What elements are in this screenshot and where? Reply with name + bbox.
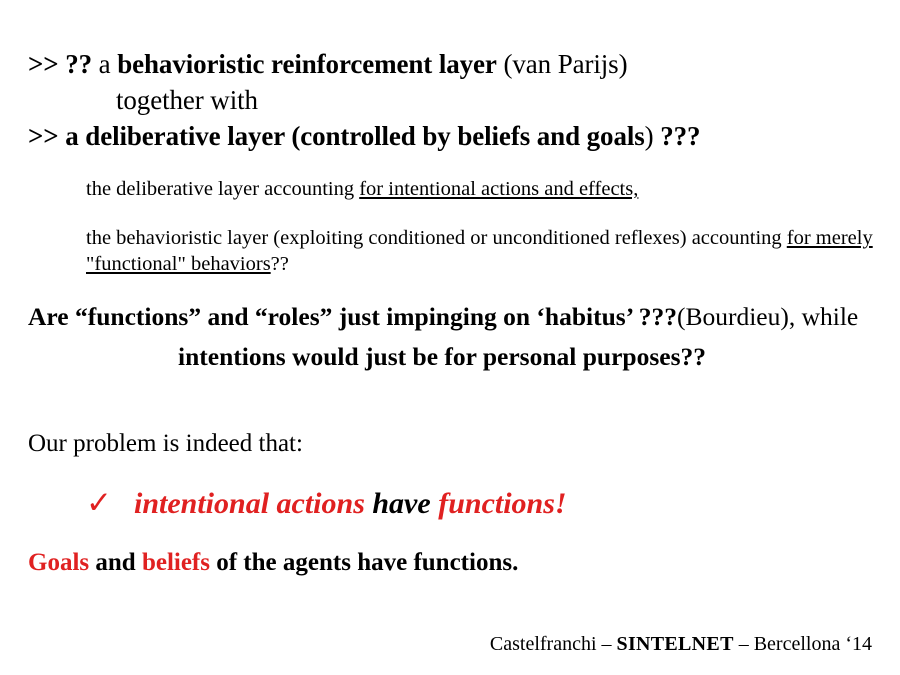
problem-statement: Our problem is indeed that:: [28, 430, 303, 458]
explanation-block: the deliberative layer accounting for in…: [86, 176, 876, 278]
explanation-2-plain-end: ??: [271, 253, 289, 275]
lead-line-1-article: a: [92, 49, 117, 79]
footer-location: – Bercellona ‘14: [734, 633, 872, 655]
question-sub-line: intentions would just be for personal pu…: [28, 340, 860, 374]
lead-line-1-bold-phrase: behavioristic reinforcement layer: [117, 49, 497, 79]
lead-line-3-bold-phrase: a deliberative layer (controlled by beli…: [65, 121, 644, 151]
lead-line-1-citation: (van Parijs): [497, 49, 628, 79]
goals-black-tail: of the agents have functions.: [210, 549, 518, 576]
goals-beliefs-line: Goals and beliefs of the agents have fun…: [28, 549, 518, 577]
question-main-bold: Are “functions” and “roles” just impingi…: [28, 302, 677, 331]
lead-block: >> ?? a behavioristic reinforcement laye…: [28, 47, 872, 155]
footer-author: Castelfranchi –: [490, 633, 617, 655]
explanation-paragraph-1: the deliberative layer accounting for in…: [86, 176, 876, 202]
claim-red-part-1: intentional actions: [134, 487, 365, 520]
question-main-line: Are “functions” and “roles” just impingi…: [28, 300, 860, 334]
claim-red-part-2: functions!: [438, 487, 566, 520]
slide-footer: Castelfranchi – SINTELNET – Bercellona ‘…: [0, 633, 872, 656]
footer-event: SINTELNET: [617, 633, 734, 655]
lead-line-1-marker: >> ??: [28, 49, 92, 79]
goals-black-mid: and: [89, 549, 142, 576]
claim-black-part: have: [365, 487, 438, 520]
question-main-plain: (Bourdieu), while: [677, 302, 858, 331]
lead-line-1: >> ?? a behavioristic reinforcement laye…: [28, 47, 872, 83]
explanation-2-plain-start: the behavioristic layer (exploiting cond…: [86, 227, 787, 249]
lead-line-2: together with: [28, 83, 872, 119]
explanation-1-underlined: for intentional actions and effects,: [359, 178, 638, 200]
slide-canvas: >> ?? a behavioristic reinforcement laye…: [0, 0, 900, 675]
lead-line-3-marker: >>: [28, 121, 65, 151]
question-block: Are “functions” and “roles” just impingi…: [28, 300, 860, 373]
explanation-paragraph-2: the behavioristic layer (exploiting cond…: [86, 225, 876, 277]
lead-line-3-queries: ???: [654, 121, 701, 151]
goals-red-word-2: beliefs: [142, 549, 210, 576]
goals-red-word-1: Goals: [28, 549, 89, 576]
lead-line-3: >> a deliberative layer (controlled by b…: [28, 119, 872, 155]
explanation-1-plain: the deliberative layer accounting: [86, 178, 359, 200]
claim-line: ✓intentional actions have functions!: [28, 485, 872, 521]
checkmark-icon: ✓: [28, 485, 134, 521]
lead-line-3-close-paren: ): [645, 121, 654, 151]
